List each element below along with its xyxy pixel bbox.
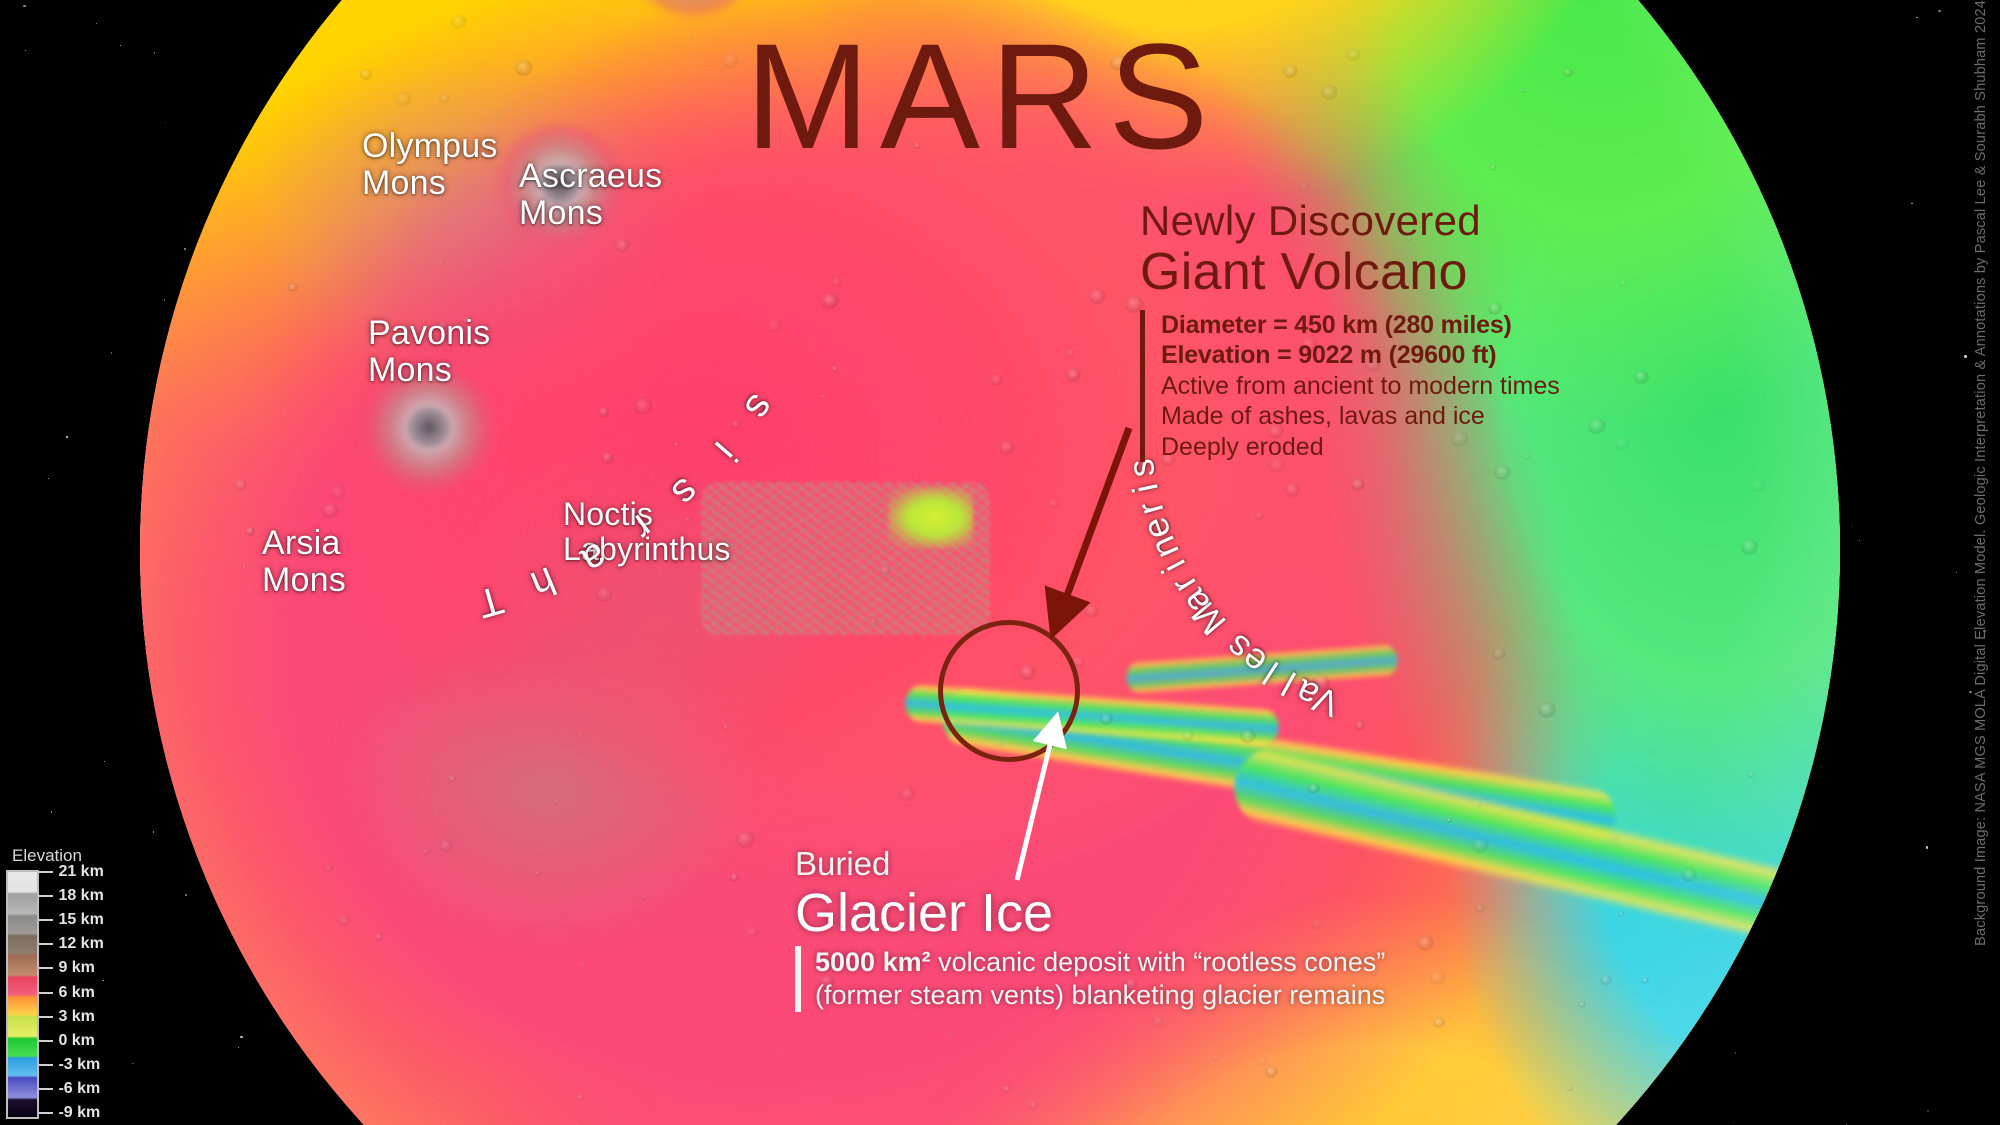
elevation-legend: Elevation 21 km18 km15 km12 km9 km6 km3 … — [6, 846, 116, 1119]
image-credit: Background Image: NASA MGS MOLA Digital … — [1964, 0, 1998, 1125]
elevation-legend-body: 21 km18 km15 km12 km9 km6 km3 km0 km-3 k… — [6, 870, 116, 1119]
volcano-fact-5: Deeply eroded — [1161, 432, 1820, 463]
elevation-tick-labels: 21 km18 km15 km12 km9 km6 km3 km0 km-3 k… — [39, 870, 116, 1115]
tick-label: 18 km — [58, 887, 103, 905]
glacier-description-line-1: 5000 km² volcanic deposit with “rootless… — [815, 946, 1695, 979]
curved-label-letter: s — [736, 386, 783, 427]
curved-label-letter: i — [1126, 480, 1166, 496]
volcano-fact-3: Active from ancient to modern times — [1161, 371, 1820, 402]
tick-mark — [39, 1040, 53, 1042]
tick-mark — [39, 919, 53, 921]
tick-label: 21 km — [58, 863, 103, 881]
volcano-callout-title-line2: Giant Volcano — [1140, 245, 1820, 300]
tick-mark — [39, 895, 53, 897]
curved-label-letter: i — [706, 434, 745, 469]
volcano-fact-2: Elevation = 9022 m (29600 ft) — [1161, 340, 1820, 371]
mars-annotated-map: MARS Olympus Mons Ascraeus Mons Pavonis … — [0, 0, 2000, 1125]
tick-mark — [39, 967, 53, 969]
tick-mark — [39, 1112, 53, 1114]
tick-mark — [39, 871, 53, 873]
tick-mark — [39, 1088, 53, 1090]
volcano-fact-1: Diameter = 450 km (280 miles) — [1161, 310, 1820, 341]
glacier-description-line-1-rest: volcanic deposit with “rootless cones” — [931, 947, 1386, 977]
curved-label-letter: T — [472, 577, 508, 625]
new-volcano-highlight-circle — [938, 620, 1080, 762]
tick-mark — [39, 1016, 53, 1018]
tick-label: 3 km — [58, 1008, 94, 1026]
glacier-description-line-2: (former steam vents) blanketing glacier … — [815, 979, 1695, 1012]
curved-label-letter: h — [525, 558, 562, 606]
tick-label: 12 km — [58, 935, 103, 953]
tick-label: 9 km — [58, 959, 94, 977]
image-credit-text: Background Image: NASA MGS MOLA Digital … — [1973, 0, 1989, 950]
volcano-callout: Newly Discovered Giant Volcano Diameter … — [1140, 200, 1820, 462]
tick-label: 0 km — [58, 1032, 94, 1050]
elevation-color-bar — [6, 870, 39, 1119]
volcano-fact-4: Made of ashes, lavas and ice — [1161, 401, 1820, 432]
volcano-pointer-arrow — [1055, 428, 1129, 628]
tick-label: 15 km — [58, 911, 103, 929]
map-label-arsia-mons: Arsia Mons — [262, 525, 346, 598]
tick-mark — [39, 992, 53, 994]
map-label-ascraeus-mons: Ascraeus Mons — [519, 158, 662, 231]
tick-label: 6 km — [58, 984, 94, 1002]
volcano-callout-title-line1: Newly Discovered — [1140, 200, 1820, 243]
page-title: MARS — [745, 10, 1218, 183]
tick-mark — [39, 1064, 53, 1066]
tick-label: -9 km — [58, 1104, 100, 1122]
glacier-callout-title: Glacier Ice — [795, 885, 1695, 942]
tick-mark — [39, 943, 53, 945]
glacier-description: 5000 km² volcanic deposit with “rootless… — [795, 946, 1695, 1012]
volcano-fact-list: Diameter = 450 km (280 miles)Elevation =… — [1140, 310, 1820, 463]
map-label-olympus-mons: Olympus Mons — [362, 128, 498, 201]
annotation-overlay: MARS Olympus Mons Ascraeus Mons Pavonis … — [0, 0, 2000, 1125]
glacier-callout-pretitle: Buried — [795, 845, 1695, 883]
map-label-pavonis-mons: Pavonis Mons — [368, 315, 490, 388]
glacier-area-value: 5000 km² — [815, 947, 931, 977]
glacier-callout: Buried Glacier Ice 5000 km² volcanic dep… — [795, 845, 1695, 1012]
tick-label: -6 km — [58, 1080, 100, 1098]
tick-label: -3 km — [58, 1056, 100, 1074]
